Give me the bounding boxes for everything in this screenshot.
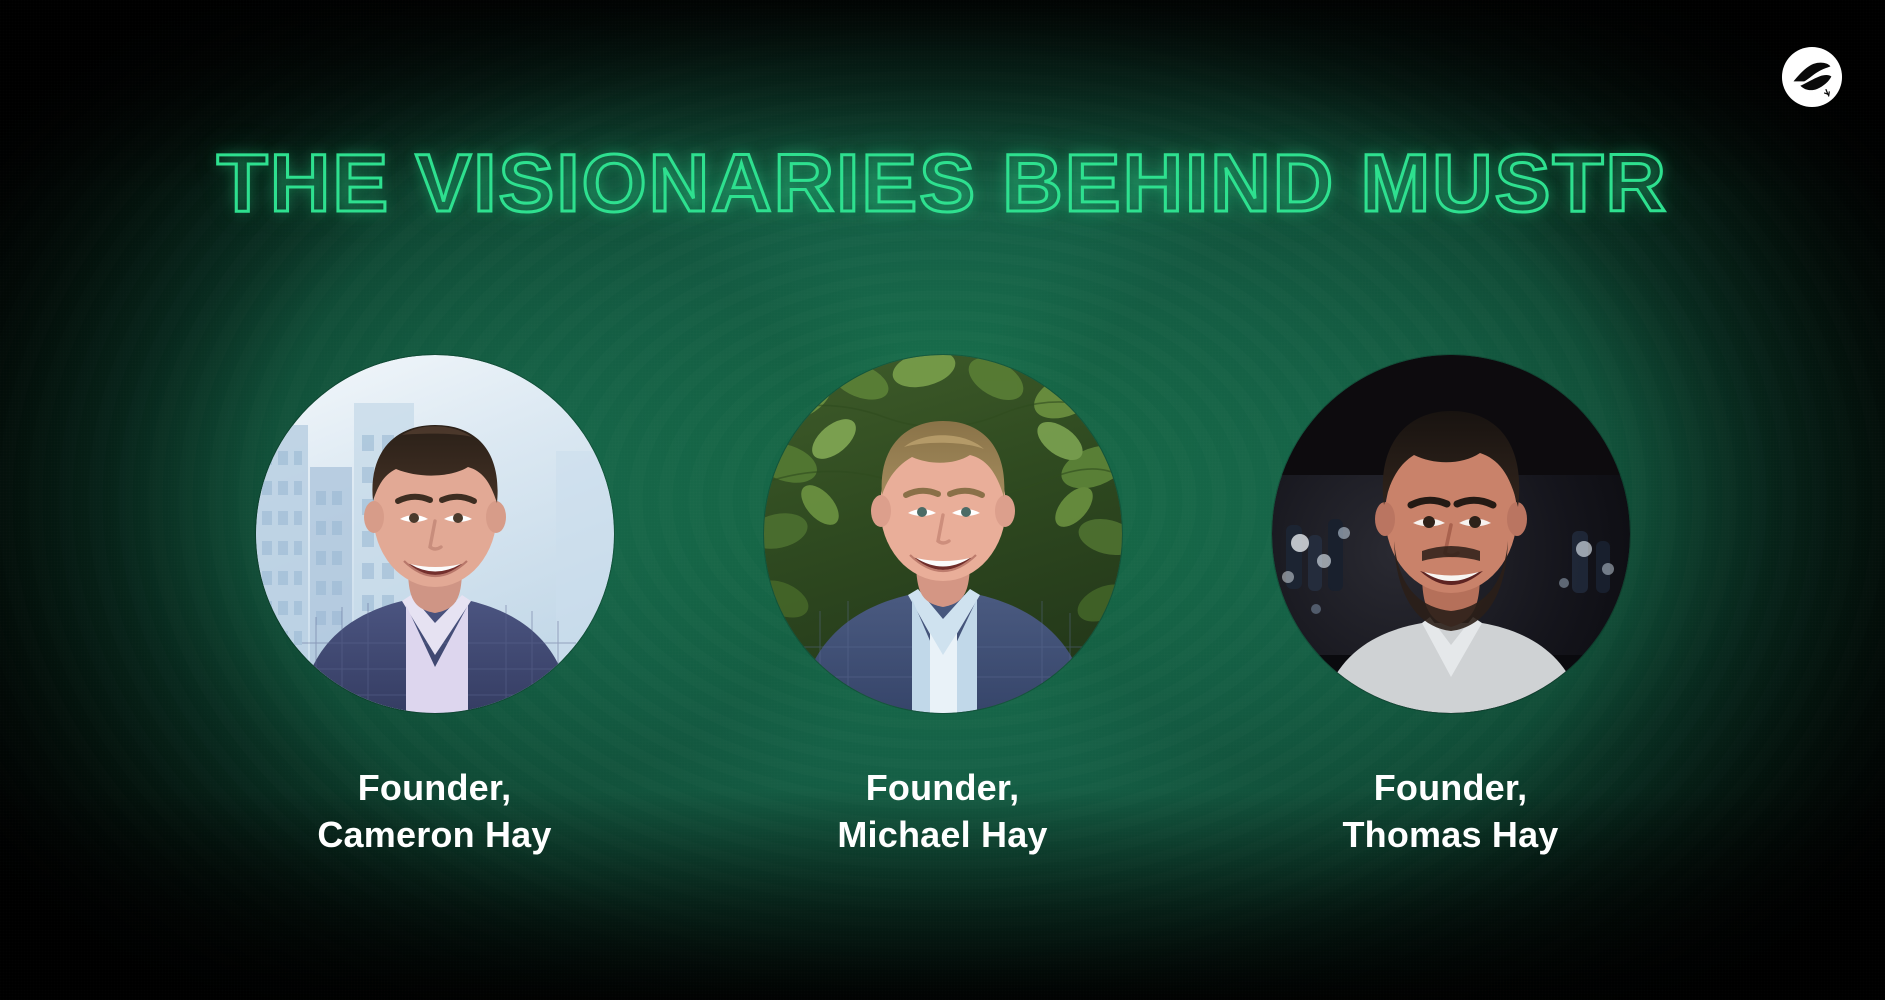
promo-banner: THE VISIONARIES BEHIND MUSTR xyxy=(0,0,1885,1000)
founders-row: Founder, Cameron Hay xyxy=(0,355,1885,859)
founder-card-1: Founder, Cameron Hay xyxy=(245,355,625,859)
founder-card-3: Founder, Thomas Hay xyxy=(1261,355,1641,859)
founder-caption: Founder, Cameron Hay xyxy=(245,765,625,859)
founder-caption: Founder, Thomas Hay xyxy=(1261,765,1641,859)
founder-name: Thomas Hay xyxy=(1261,812,1641,859)
founder-name: Cameron Hay xyxy=(245,812,625,859)
page-title: THE VISIONARIES BEHIND MUSTR xyxy=(217,143,1668,225)
headline-container: THE VISIONARIES BEHIND MUSTR xyxy=(0,143,1885,225)
founder-name: Michael Hay xyxy=(753,812,1133,859)
founder-role: Founder, xyxy=(753,765,1133,812)
avatar[interactable] xyxy=(764,355,1122,713)
avatar[interactable] xyxy=(1272,355,1630,713)
founder-card-2: Founder, Michael Hay xyxy=(753,355,1133,859)
mustr-logo-icon[interactable] xyxy=(1781,46,1843,108)
founder-role: Founder, xyxy=(245,765,625,812)
founder-role: Founder, xyxy=(1261,765,1641,812)
avatar[interactable] xyxy=(256,355,614,713)
founder-caption: Founder, Michael Hay xyxy=(753,765,1133,859)
